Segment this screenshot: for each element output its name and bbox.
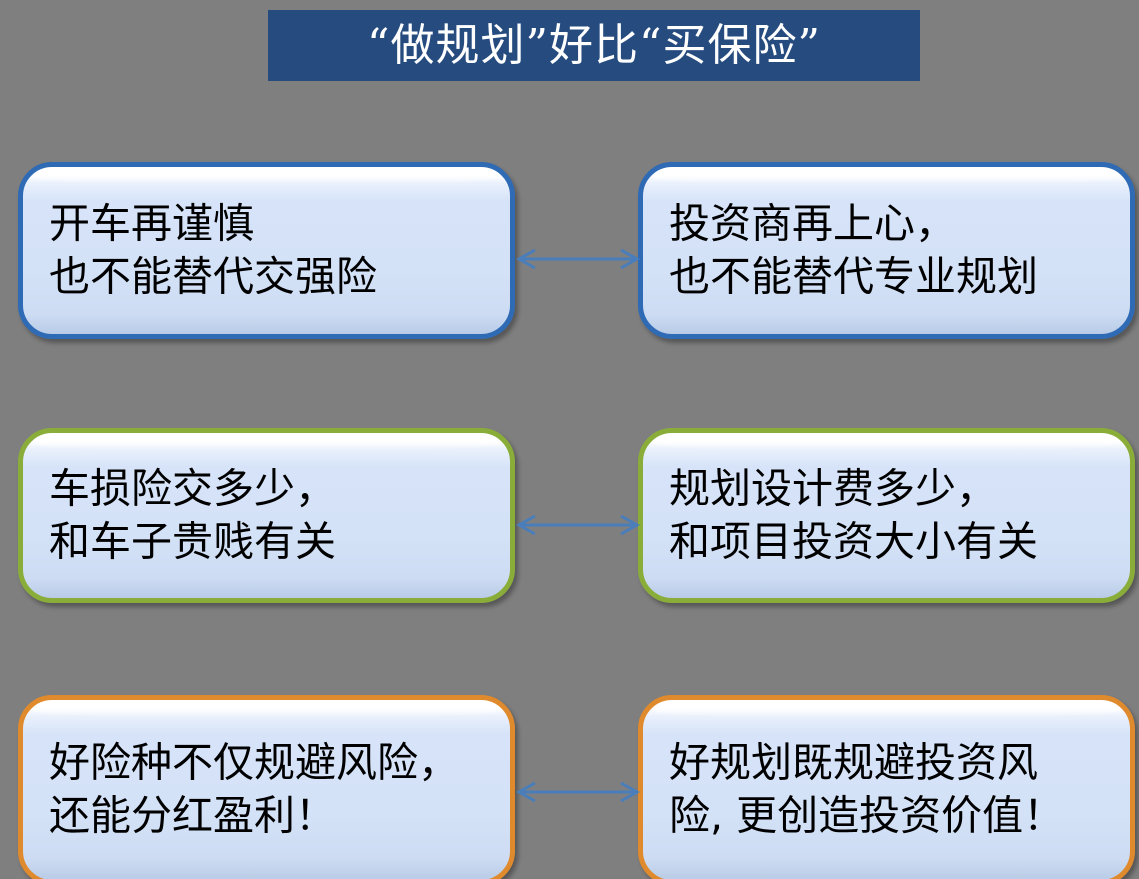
callout-box-row1-left[interactable]: 开车再谨慎 也不能替代交强险 — [18, 162, 515, 339]
callout-text: 开车再谨慎 也不能替代交强险 — [49, 197, 496, 304]
callout-text: 好规划既规避投资风 险, 更创造投资价值！ — [669, 737, 1116, 844]
callout-text: 规划设计费多少， 和项目投资大小有关 — [669, 462, 1116, 569]
title-banner: “做规划”好比“买保险” — [268, 10, 920, 81]
callout-box-row3-left[interactable]: 好险种不仅规避风险， 还能分红盈利！ — [18, 695, 515, 879]
gloss-highlight — [33, 703, 500, 717]
callout-box-row2-right[interactable]: 规划设计费多少， 和项目投资大小有关 — [638, 428, 1135, 603]
callout-text: 车损险交多少， 和车子贵贱有关 — [49, 462, 496, 569]
double-arrow-icon-row1 — [513, 244, 643, 274]
page-title: “做规划”好比“买保险” — [367, 24, 821, 68]
slide-canvas: “做规划”好比“买保险” 开车再谨慎 也不能替代交强险 投资商再上心， 也不能替… — [0, 0, 1139, 879]
double-arrow-icon-row3 — [513, 777, 643, 807]
callout-box-row1-right[interactable]: 投资商再上心， 也不能替代专业规划 — [638, 162, 1135, 339]
gloss-highlight — [653, 436, 1120, 450]
gloss-highlight — [33, 170, 500, 184]
gloss-highlight — [653, 703, 1120, 717]
callout-text: 投资商再上心， 也不能替代专业规划 — [669, 197, 1116, 304]
callout-box-row2-left[interactable]: 车损险交多少， 和车子贵贱有关 — [18, 428, 515, 603]
callout-box-row3-right[interactable]: 好规划既规避投资风 险, 更创造投资价值！ — [638, 695, 1135, 879]
gloss-highlight — [653, 170, 1120, 184]
gloss-highlight — [33, 436, 500, 450]
double-arrow-icon-row2 — [513, 510, 643, 540]
callout-text: 好险种不仅规避风险， 还能分红盈利！ — [49, 737, 496, 844]
